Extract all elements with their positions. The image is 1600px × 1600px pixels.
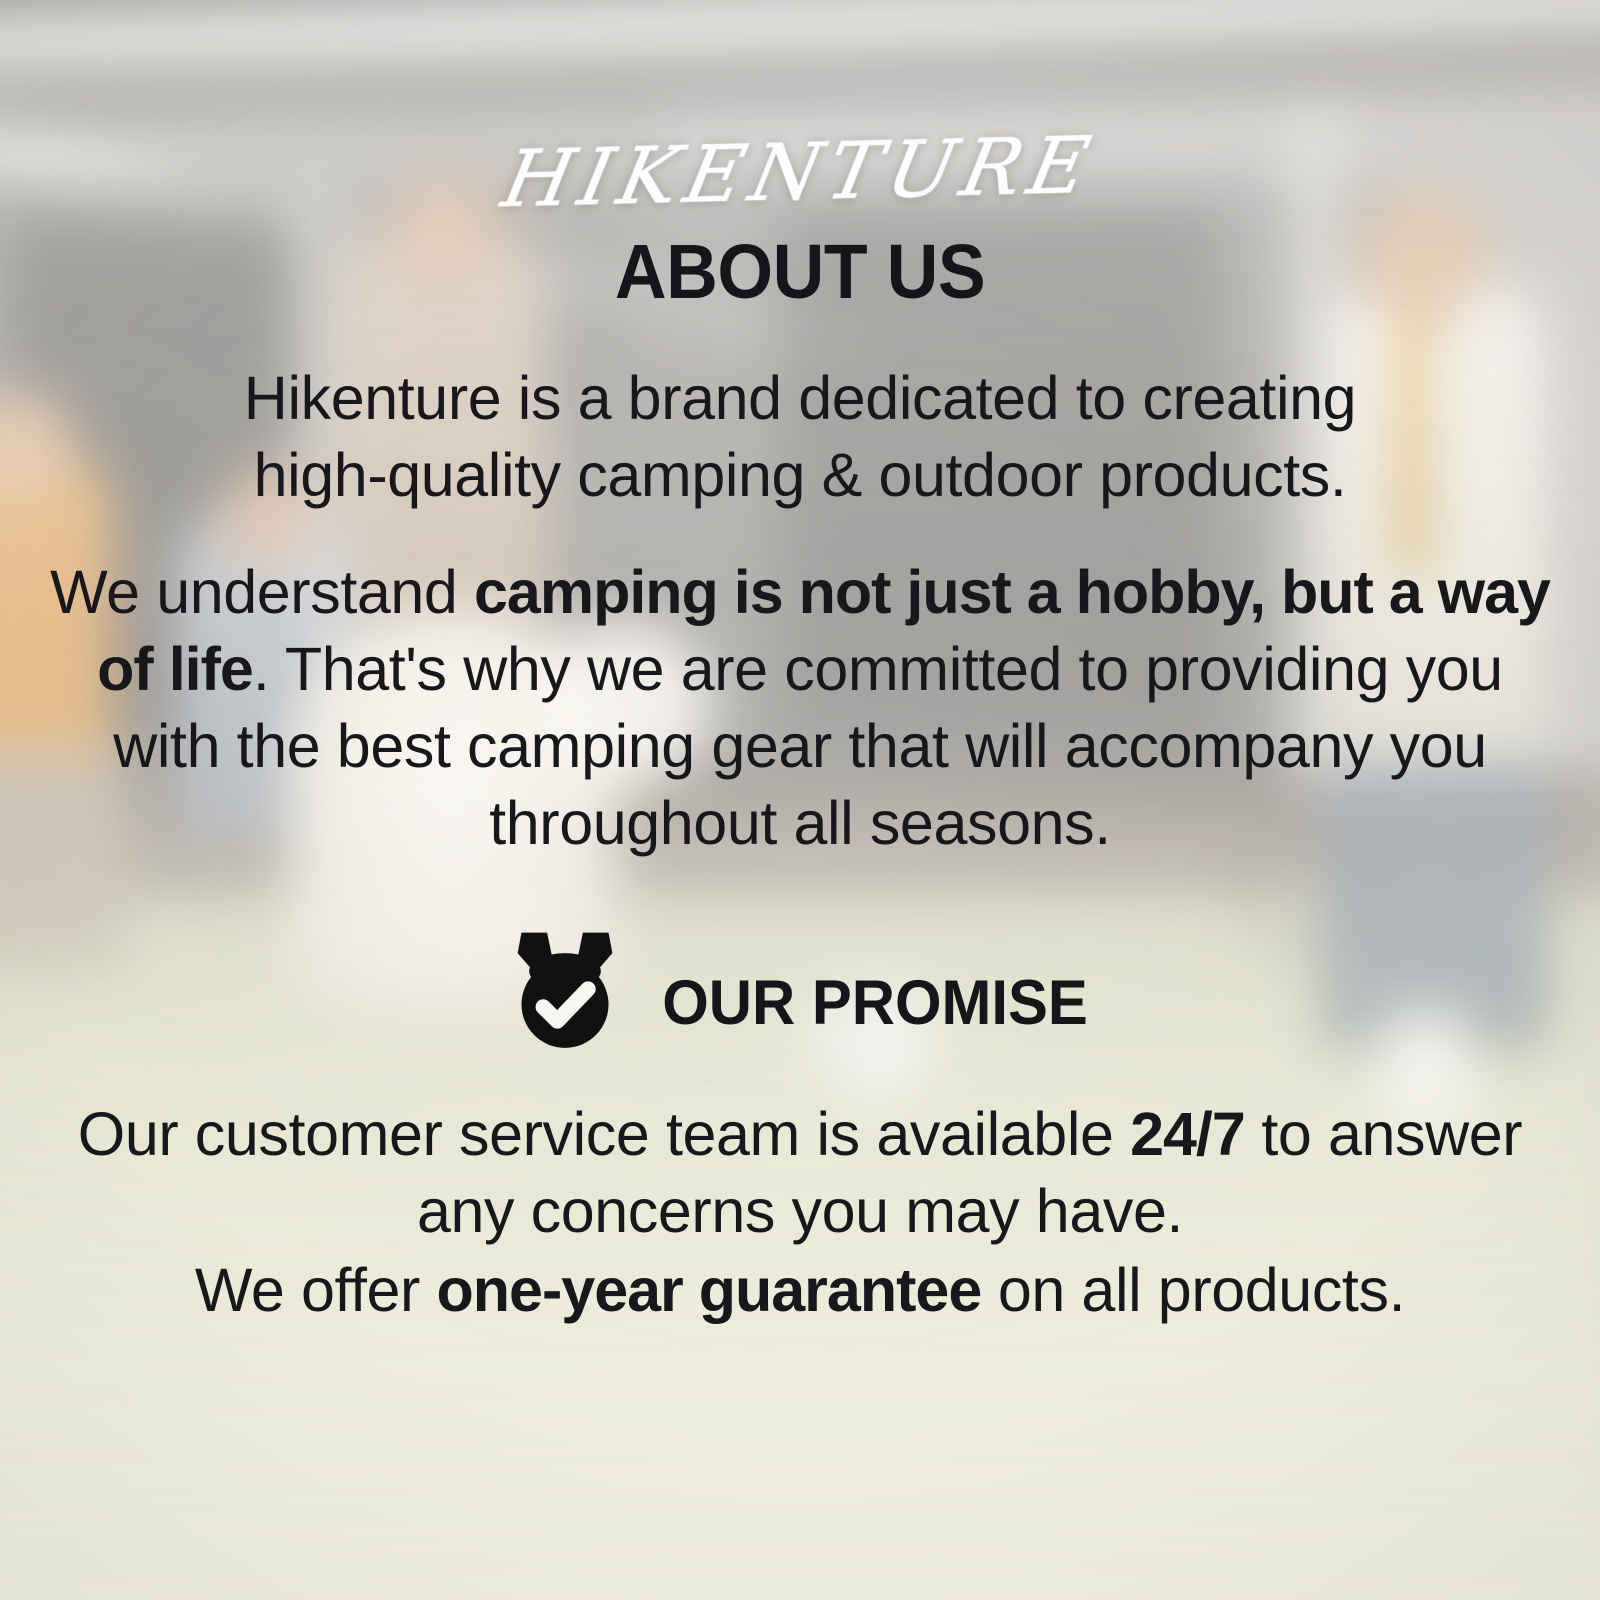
- service-bold-availability: 24/7: [1130, 1100, 1245, 1168]
- our-promise-header: OUR PROMISE: [0, 925, 1600, 1053]
- content-layer: HIKENTURE ABOUT US Hikenture is a brand …: [0, 0, 1600, 1600]
- guarantee-text-part-2: on all products.: [981, 1256, 1405, 1324]
- service-text-part-1: Our customer service team is available: [78, 1100, 1130, 1168]
- paragraph-philosophy: We understand camping is not just a hobb…: [40, 554, 1560, 861]
- intro-line-1: Hikenture is a brand dedicated to creati…: [244, 364, 1356, 432]
- about-us-banner: HIKENTURE ABOUT US Hikenture is a brand …: [0, 0, 1600, 1600]
- guarantee-bold-phrase: one-year guarantee: [437, 1256, 982, 1324]
- philosophy-text-part-1: We understand: [50, 558, 474, 626]
- intro-line-2: high-quality camping & outdoor products.: [254, 441, 1347, 509]
- paragraph-customer-service: Our customer service team is available 2…: [40, 1096, 1560, 1250]
- brand-script-logo: HIKENTURE: [0, 108, 1600, 237]
- section-title-our-promise: OUR PROMISE: [662, 972, 1088, 1035]
- medal-check-icon: [501, 925, 629, 1053]
- philosophy-text-part-2: . That's why we are committed to providi…: [113, 635, 1503, 857]
- guarantee-text-part-1: We offer: [195, 1256, 437, 1324]
- paragraph-guarantee: We offer one-year guarantee on all produ…: [40, 1252, 1560, 1329]
- page-title-about-us: ABOUT US: [56, 234, 1544, 311]
- paragraph-intro: Hikenture is a brand dedicated to creati…: [40, 360, 1560, 514]
